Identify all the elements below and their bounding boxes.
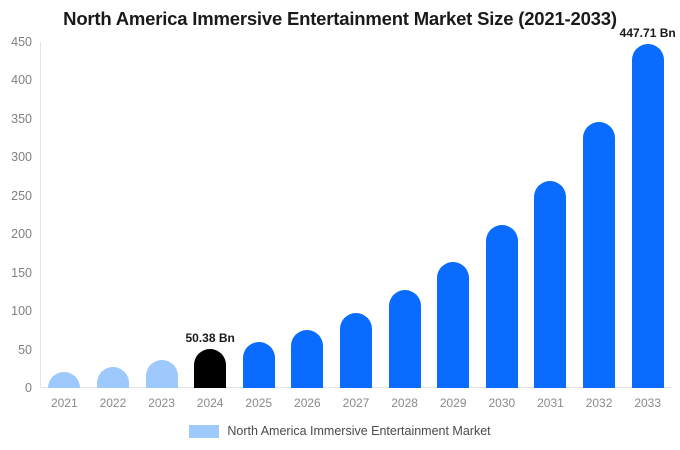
bar-2023[interactable] [146, 360, 178, 388]
bar-2031[interactable] [534, 181, 566, 388]
x-axis-tick-label: 2026 [294, 396, 321, 410]
bar-2030[interactable] [486, 225, 518, 388]
y-axis-tick-label: 200 [0, 227, 32, 241]
y-axis-tick-label: 0 [0, 381, 32, 395]
y-axis-tick-label: 400 [0, 73, 32, 87]
chart-legend: North America Immersive Entertainment Ma… [0, 424, 680, 438]
bar-2026[interactable] [291, 330, 323, 388]
x-axis-tick-label: 2029 [440, 396, 467, 410]
x-axis-tick-label: 2033 [634, 396, 661, 410]
x-axis-tick-label: 2028 [391, 396, 418, 410]
bar-2021[interactable] [48, 372, 80, 388]
chart-title: North America Immersive Entertainment Ma… [0, 8, 680, 30]
y-axis-tick-label: 100 [0, 304, 32, 318]
data-label-2024: 50.38 Bn [185, 331, 234, 345]
x-axis-tick-label: 2021 [51, 396, 78, 410]
chart-container: North America Immersive Entertainment Ma… [0, 0, 680, 450]
y-axis-tick-label: 250 [0, 189, 32, 203]
x-axis-tick-label: 2023 [148, 396, 175, 410]
y-axis-tick-label: 150 [0, 266, 32, 280]
bar-2029[interactable] [437, 262, 469, 388]
x-axis-tick-label: 2031 [537, 396, 564, 410]
legend-label[interactable]: North America Immersive Entertainment Ma… [227, 424, 490, 438]
bar-2025[interactable] [243, 342, 275, 388]
y-axis-tick-label: 350 [0, 112, 32, 126]
x-axis-tick-label: 2030 [488, 396, 515, 410]
bar-2022[interactable] [97, 367, 129, 388]
y-axis-tick-label: 50 [0, 343, 32, 357]
y-axis-tick-label: 450 [0, 35, 32, 49]
y-axis-tick-label: 300 [0, 150, 32, 164]
bar-2028[interactable] [389, 290, 421, 388]
legend-swatch [189, 425, 219, 438]
x-axis-tick-label: 2024 [197, 396, 224, 410]
bar-2027[interactable] [340, 313, 372, 388]
bar-2024[interactable] [194, 349, 226, 388]
x-axis-tick-label: 2022 [100, 396, 127, 410]
x-axis-tick-label: 2025 [245, 396, 272, 410]
x-axis-tick-label: 2032 [586, 396, 613, 410]
y-axis-line [40, 42, 41, 388]
bar-2033[interactable] [632, 44, 664, 388]
x-axis-tick-label: 2027 [343, 396, 370, 410]
plot-area [40, 42, 672, 388]
bar-2032[interactable] [583, 122, 615, 388]
data-label-2033: 447.71 Bn [620, 26, 676, 40]
